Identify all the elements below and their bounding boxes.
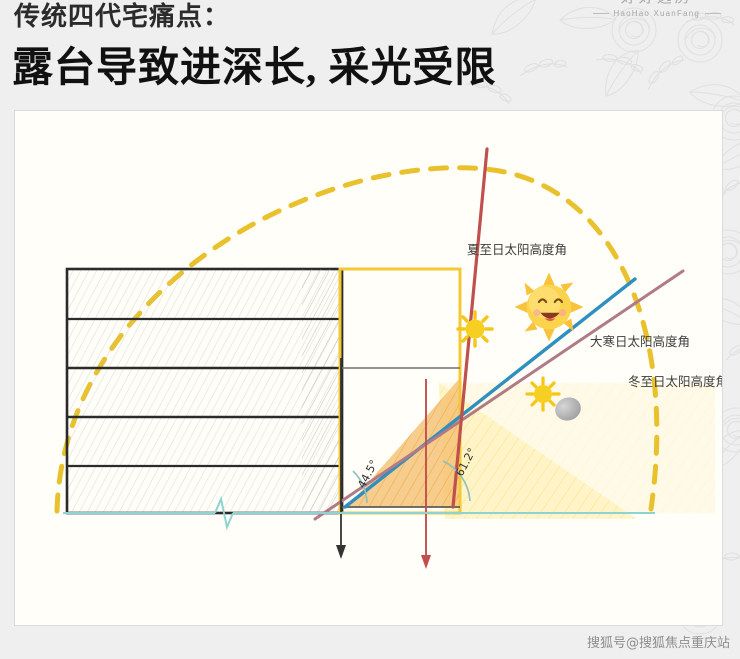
brand-rule-left	[593, 13, 609, 14]
brand-name-cn: 好好选房	[588, 0, 727, 7]
smiling-sun-icon	[513, 271, 585, 343]
brand-logo: 好好选房 HaoHao XuanFang	[588, 0, 727, 18]
brand-rule-right	[705, 13, 721, 14]
label-summer-solstice: 夏至日太阳高度角	[467, 239, 567, 258]
diagram-card: 44.5° 61.2°	[14, 110, 723, 626]
sunlight-diagram: 44.5° 61.2°	[15, 111, 722, 625]
page-header: 传统四代宅痛点： 露台导致进深长, 采光受限 好好选房 HaoHao XuanF…	[0, 0, 740, 108]
page-title: 露台导致进深长, 采光受限	[12, 33, 497, 93]
brand-name-en: HaoHao XuanFang	[588, 9, 727, 18]
summer-ray-arrowhead	[421, 555, 431, 569]
unsatisfied-arrowhead	[336, 545, 346, 559]
sun-icon-winter	[527, 378, 559, 410]
brand-en-text: HaoHao XuanFang	[614, 9, 701, 18]
eyebrow-text: 传统四代宅痛点：	[14, 0, 230, 33]
label-great-cold: 大寒日太阳高度角	[590, 331, 690, 350]
label-winter-solstice: 冬至日太阳高度角	[628, 371, 723, 390]
sun-icon-summer	[458, 312, 492, 346]
watermark: 搜狐号@搜狐焦点重庆站	[587, 632, 730, 651]
building-block	[67, 269, 342, 513]
